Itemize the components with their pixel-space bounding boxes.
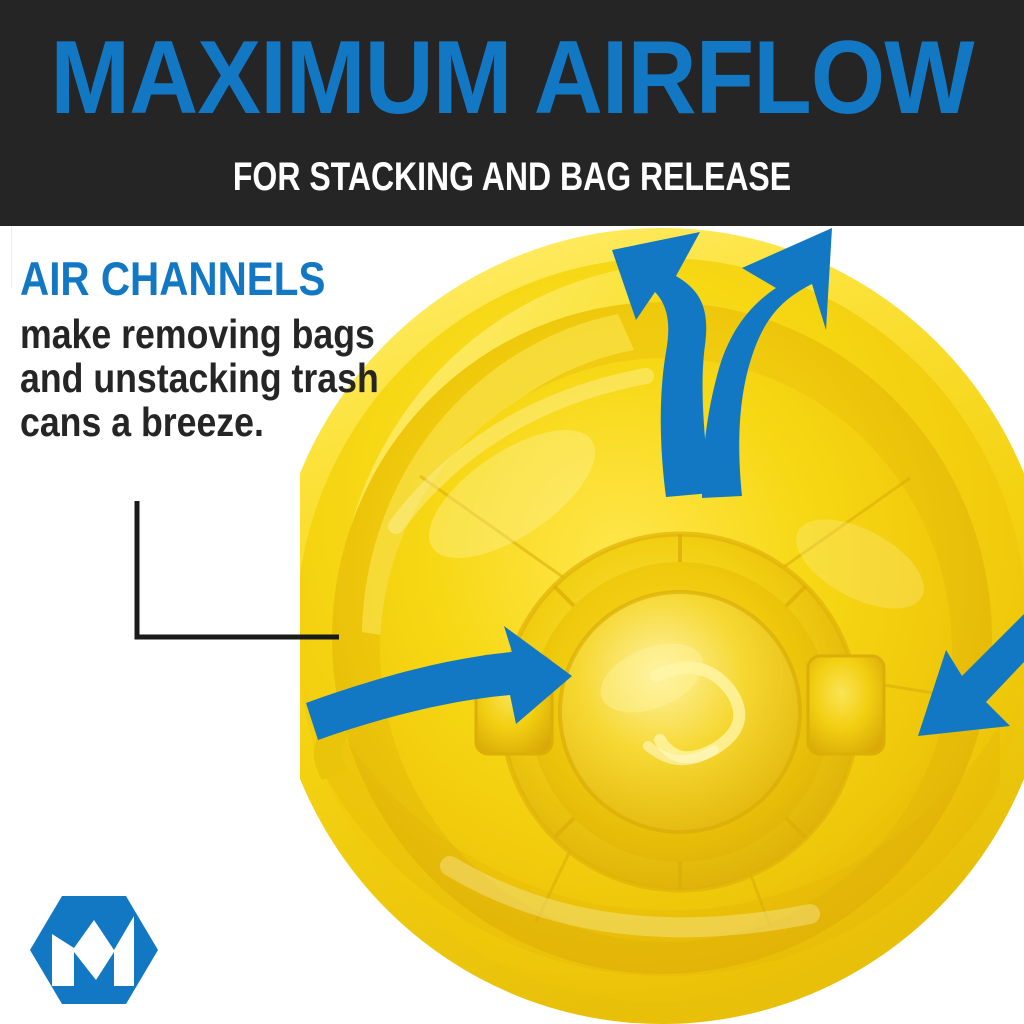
airflow-arrows xyxy=(0,0,1024,1024)
trademark-symbol: ™ xyxy=(123,985,135,997)
airflow-arrow-in-left xyxy=(306,626,572,740)
airflow-arrow-up-right xyxy=(702,228,832,498)
infographic-canvas: MAXIMUM AIRFLOW FOR STACKING AND BAG REL… xyxy=(0,0,1024,1024)
airflow-arrow-in-right xyxy=(918,614,1024,736)
m-hexagon-logo xyxy=(22,890,172,1010)
airflow-arrow-up-left xyxy=(612,232,711,497)
